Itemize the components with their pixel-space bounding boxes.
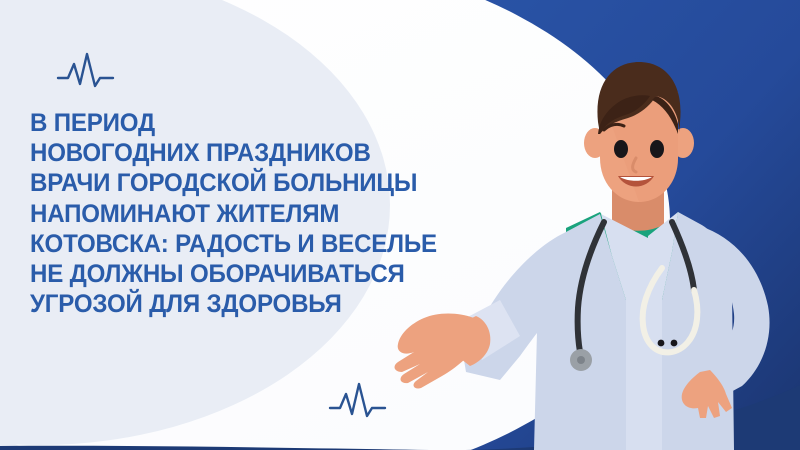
headline-line-4: НАПОМИНАЮТ ЖИТЕЛЯМ: [30, 199, 474, 229]
pulse-icon-bottom-center: [330, 384, 385, 416]
pulse-icon-top-left: [58, 54, 113, 86]
poster-canvas: В ПЕРИОД НОВОГОДНИХ ПРАЗДНИКОВ ВРАЧИ ГОР…: [0, 0, 800, 450]
headline-line-3: ВРАЧИ ГОРОДСКОЙ БОЛЬНИЦЫ: [30, 168, 474, 198]
headline-line-1: В ПЕРИОД: [30, 108, 474, 138]
headline-block: В ПЕРИОД НОВОГОДНИХ ПРАЗДНИКОВ ВРАЧИ ГОР…: [30, 108, 500, 319]
headline-line-6: НЕ ДОЛЖНЫ ОБОРАЧИВАТЬСЯ: [30, 259, 474, 289]
headline-line-5: КОТОВСКА: РАДОСТЬ И ВЕСЕЛЬЕ: [30, 229, 474, 259]
headline-line-2: НОВОГОДНИХ ПРАЗДНИКОВ: [30, 138, 474, 168]
headline-line-7: УГРОЗОЙ ДЛЯ ЗДОРОВЬЯ: [30, 289, 474, 319]
